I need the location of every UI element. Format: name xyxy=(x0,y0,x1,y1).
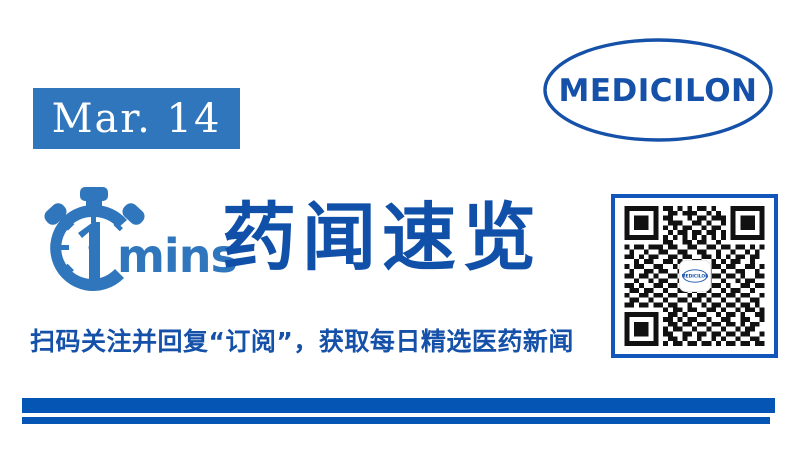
stopwatch-tick-12 xyxy=(91,212,96,223)
qr-logo-wordmark: MEDICILON xyxy=(682,274,708,280)
banner-canvas: Mar. 14 MEDICILON xyxy=(0,0,800,468)
stopwatch-tick-9 xyxy=(58,245,69,250)
headline-title: 药闻速览 xyxy=(222,198,542,279)
logo-wordmark: MEDICILON xyxy=(558,73,757,109)
medicilon-logo: MEDICILON xyxy=(541,36,775,144)
subtitle-text: 扫码关注并回复“订阅”，获取每日精选医药新闻 xyxy=(30,328,574,357)
date-badge: Mar. 14 xyxy=(33,88,240,149)
mins-wordmark: mins xyxy=(117,233,237,279)
qr-code-frame[interactable]: MEDICILON xyxy=(611,194,778,358)
bottom-rule-thick xyxy=(22,398,775,413)
bottom-rule-thin xyxy=(22,417,770,424)
qr-code-image[interactable]: MEDICILON xyxy=(623,206,766,346)
date-badge-label: Mar. 14 xyxy=(52,99,222,139)
stopwatch-right-ear xyxy=(120,200,148,227)
qr-center-logo: MEDICILON xyxy=(680,261,710,291)
